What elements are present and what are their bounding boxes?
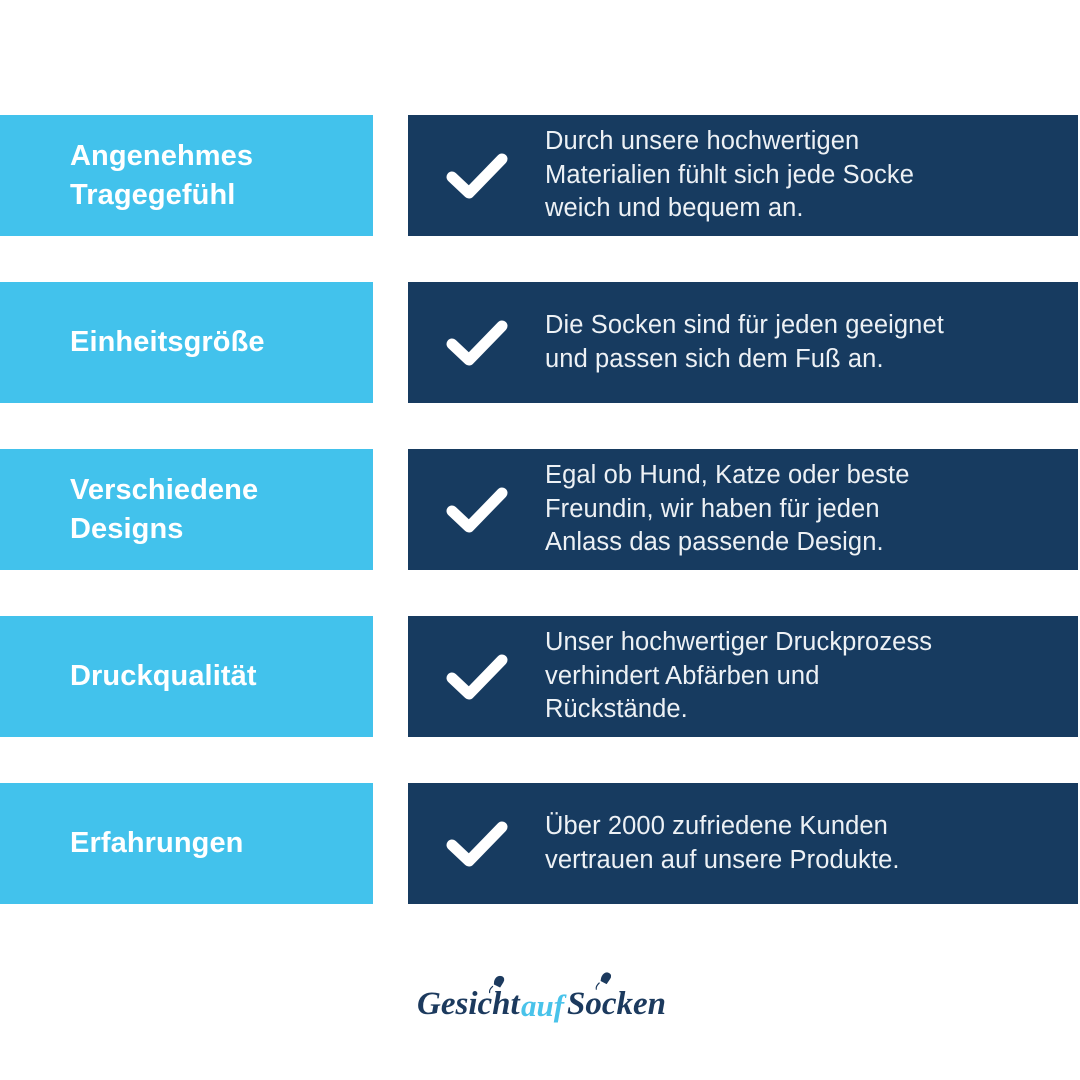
feature-label-chip: Verschiedene Designs — [0, 449, 373, 570]
feature-description: Über 2000 zufriedene Kunden vertrauen au… — [545, 810, 920, 878]
feature-rows: Angenehmes Tragegefühl Durch unsere hoch… — [0, 115, 1080, 950]
check-icon — [446, 820, 508, 868]
check-icon-wrap — [408, 653, 545, 701]
feature-row: Angenehmes Tragegefühl Durch unsere hoch… — [0, 115, 1080, 236]
check-icon-wrap — [408, 486, 545, 534]
feature-row: Erfahrungen Über 2000 zufriedene Kunden … — [0, 783, 1080, 904]
feature-description: Egal ob Hund, Katze oder beste Freundin,… — [545, 459, 930, 561]
feature-label-chip: Angenehmes Tragegefühl — [0, 115, 373, 236]
feature-description-panel: Durch unsere hochwertigen Materialien fü… — [408, 115, 1078, 236]
feature-label: Einheitsgröße — [70, 323, 265, 362]
brand-logo: Gesicht auf Socken — [0, 958, 1080, 1038]
feature-description-panel: Über 2000 zufriedene Kunden vertrauen au… — [408, 783, 1078, 904]
feature-label-chip: Einheitsgröße — [0, 282, 373, 403]
feature-description: Durch unsere hochwertigen Materialien fü… — [545, 125, 934, 227]
feature-description-panel: Egal ob Hund, Katze oder beste Freundin,… — [408, 449, 1078, 570]
feature-description-panel: Unser hochwertiger Druckprozess verhinde… — [408, 616, 1078, 737]
logo-text-part3: Socken — [567, 986, 665, 1022]
feature-description: Unser hochwertiger Druckprozess verhinde… — [545, 626, 952, 728]
check-icon — [446, 319, 508, 367]
check-icon — [446, 653, 508, 701]
feature-label-chip: Druckqualität — [0, 616, 373, 737]
check-icon-wrap — [408, 820, 545, 868]
feature-description: Die Socken sind für jeden geeignet und p… — [545, 309, 964, 377]
check-icon-wrap — [408, 319, 545, 367]
logo-text-part1: Gesicht — [417, 986, 520, 1022]
feature-label: Angenehmes Tragegefühl — [70, 137, 253, 214]
feature-label: Druckqualität — [70, 657, 257, 696]
feature-row: Einheitsgröße Die Socken sind für jeden … — [0, 282, 1080, 403]
feature-description-panel: Die Socken sind für jeden geeignet und p… — [408, 282, 1078, 403]
check-icon — [446, 486, 508, 534]
feature-row: Druckqualität Unser hochwertiger Druckpr… — [0, 616, 1080, 737]
check-icon — [446, 152, 508, 200]
feature-list-graphic: Angenehmes Tragegefühl Durch unsere hoch… — [0, 0, 1080, 1080]
logo-text-part2: auf — [521, 988, 567, 1023]
feature-row: Verschiedene Designs Egal ob Hund, Katze… — [0, 449, 1080, 570]
feature-label: Verschiedene Designs — [70, 471, 258, 548]
feature-label: Erfahrungen — [70, 824, 244, 863]
feature-label-chip: Erfahrungen — [0, 783, 373, 904]
check-icon-wrap — [408, 152, 545, 200]
gesicht-auf-socken-logo: Gesicht auf Socken — [415, 966, 665, 1030]
